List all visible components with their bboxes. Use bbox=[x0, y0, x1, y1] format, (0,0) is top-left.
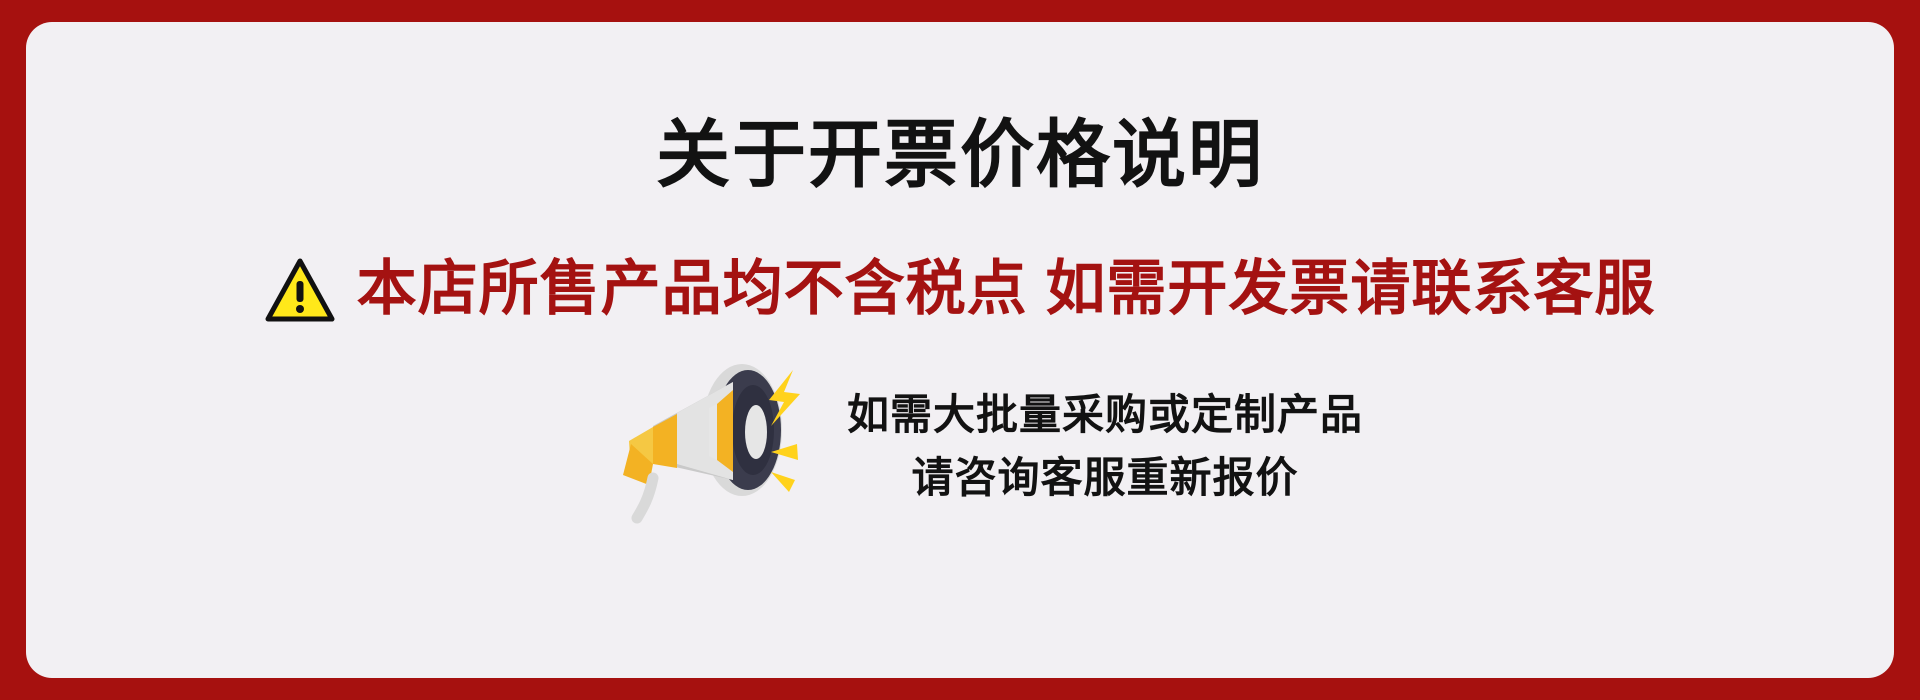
promo-row: 如需大批量采购或定制产品 请咨询客服重新报价 bbox=[26, 352, 1894, 527]
warning-text: 本店所售产品均不含税点 如需开发票请联系客服 bbox=[357, 259, 1656, 319]
warning-row: 本店所售产品均不含税点 如需开发票请联系客服 bbox=[26, 254, 1894, 324]
banner-frame: 关于开票价格说明 本店所售产品均不含税点 如需开发票请联系客服 bbox=[0, 0, 1920, 700]
promo-lines: 如需大批量采购或定制产品 请咨询客服重新报价 bbox=[847, 379, 1363, 499]
megaphone-icon bbox=[557, 352, 817, 527]
warning-triangle-icon bbox=[265, 258, 335, 324]
banner-panel: 关于开票价格说明 本店所售产品均不含税点 如需开发票请联系客服 bbox=[26, 22, 1894, 678]
promo-line-1: 如需大批量采购或定制产品 bbox=[847, 393, 1363, 437]
promo-line-2: 请咨询客服重新报价 bbox=[911, 456, 1298, 500]
page-title: 关于开票价格说明 bbox=[26, 118, 1894, 192]
